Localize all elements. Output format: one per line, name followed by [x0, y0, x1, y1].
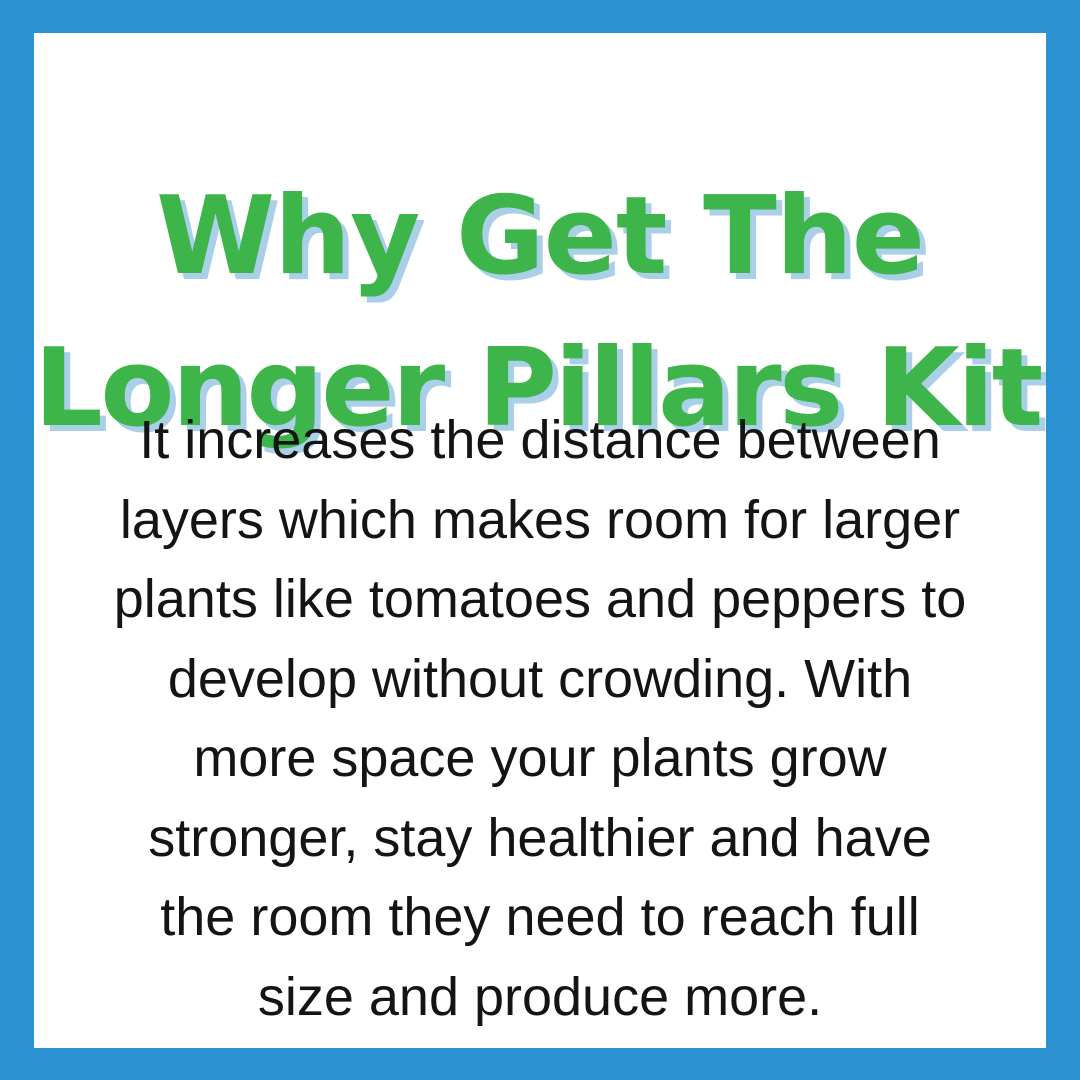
body-line-6: stronger, stay healthier and have	[80, 799, 1000, 879]
body-paragraph: It increases the distance between layers…	[80, 401, 1000, 1037]
body-line-1: It increases the distance between	[80, 401, 1000, 481]
content-card: Why Get The Longer Pillars Kit ? It incr…	[34, 33, 1046, 1048]
body-line-5: more space your plants grow	[80, 719, 1000, 799]
headline-line-1: Why Get The	[34, 161, 1046, 313]
body-line-2: layers which makes room for larger	[80, 481, 1000, 561]
body-line-7: the room they need to reach full	[80, 878, 1000, 958]
body-line-3: plants like tomatoes and peppers to	[80, 560, 1000, 640]
poster-root: Why Get The Longer Pillars Kit ? It incr…	[0, 0, 1080, 1080]
body-line-4: develop without crowding. With	[80, 640, 1000, 720]
body-line-8: size and produce more.	[80, 958, 1000, 1038]
